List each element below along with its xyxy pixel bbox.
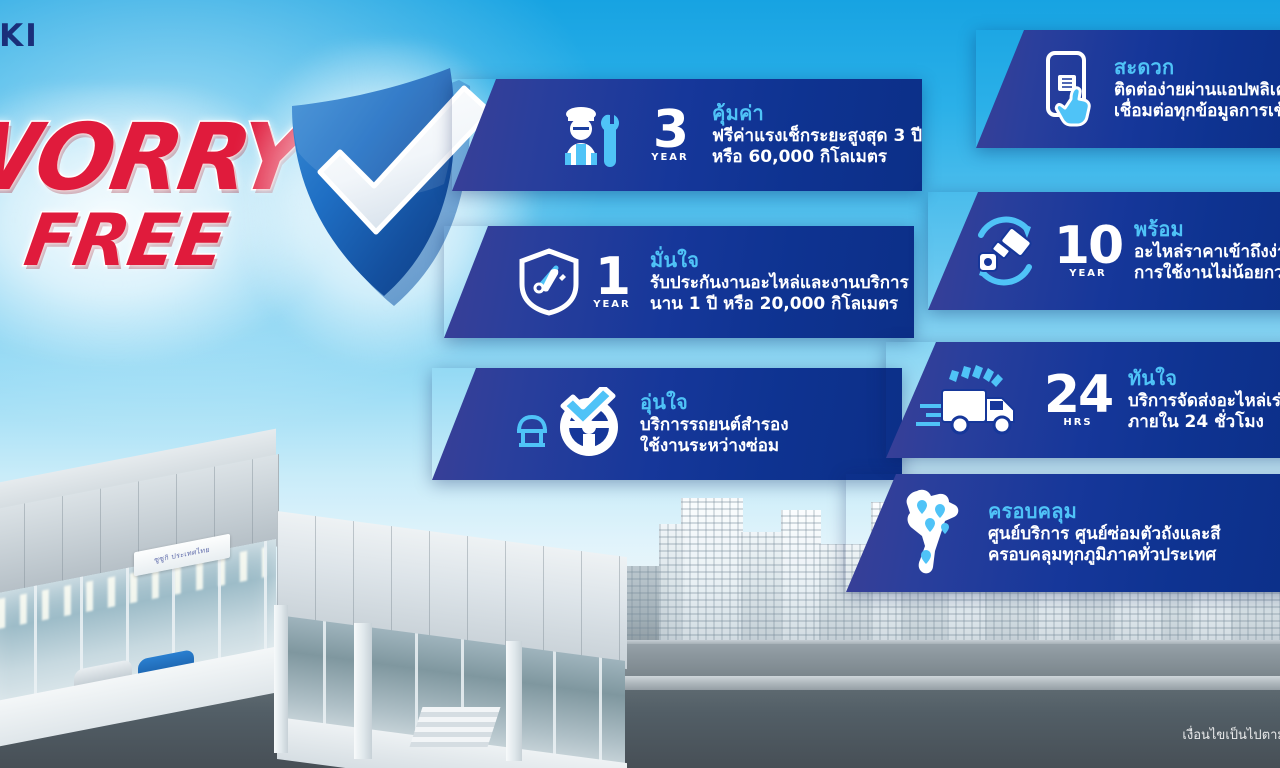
courtesy-car-steering-wheel-icon <box>506 387 636 461</box>
panel-body-line2: ครอบคลุมทุกภูมิภาคทั่วประเทศ <box>988 545 1280 566</box>
badge-unit: YEAR <box>651 152 689 163</box>
panel-heading: อุ่นใจ <box>640 391 902 413</box>
badge-unit: HRS <box>1063 417 1092 428</box>
panel-heading: คุ้มค่า <box>712 102 922 124</box>
badge-number: 3 <box>653 107 687 154</box>
badge-unit: YEAR <box>593 299 631 310</box>
panel-body-line2: เชื่อมต่อทุกข้อมูลการเข้าใช้บริ <box>1114 101 1280 122</box>
panel-body-line2: ภายใน 24 ชั่วโมง <box>1128 412 1280 433</box>
mobile-app-tap-icon <box>1034 49 1106 129</box>
badge-number: 24 <box>1044 372 1112 419</box>
panel-body-line2: ใช้งานระหว่างซ่อม <box>640 436 902 457</box>
fast-delivery-truck-icon <box>912 362 1036 438</box>
poster-canvas: ซูซูกิ ประเทศไทย UKI WORRY FREE <box>0 0 1280 768</box>
mechanic-wrench-icon <box>544 103 642 167</box>
panel-heading: ทันใจ <box>1128 367 1280 389</box>
panel-heading: สะดวก <box>1114 56 1280 78</box>
feature-panel-ready[interactable]: 10 YEAR พร้อม อะไหล่ราคาเข้าถึงง่าย พร้อ… <box>928 192 1280 310</box>
feature-panel-convenient[interactable]: สะดวก ติดต่อง่ายผ่านแอปพลิเคชั่น เชื่อมต… <box>976 30 1280 148</box>
shield-tools-icon <box>506 248 592 316</box>
panel-body-line1: บริการรถยนต์สำรอง <box>640 415 902 436</box>
badge-unit: YEAR <box>1069 268 1107 279</box>
panel-heading: พร้อม <box>1134 218 1280 240</box>
badge-10-year: 10 YEAR <box>1052 223 1124 279</box>
feature-panel-cost-effective[interactable]: 3 YEAR คุ้มค่า ฟรีค่าแรงเช็กระยะสูงสุด 3… <box>452 79 922 191</box>
feature-panel-prompt[interactable]: 24 HRS ทันใจ บริการจัดส่งอะไหล่เร่งด่วน … <box>886 342 1280 458</box>
panel-heading: มั่นใจ <box>650 249 914 271</box>
panel-heading: ครอบคลุม <box>988 500 1280 522</box>
free-text: FREE <box>20 204 230 276</box>
dealership-building: ซูซูกิ ประเทศไทย <box>0 455 626 755</box>
piston-recycle-icon <box>958 211 1052 291</box>
panel-body-line1: ศูนย์บริการ ศูนย์ซ่อมตัวถังและสี <box>988 524 1280 545</box>
badge-number: 1 <box>595 254 629 301</box>
suzuki-wordmark: UKI <box>0 18 39 54</box>
panel-body-line1: ฟรีค่าแรงเช็กระยะสูงสุด 3 ปี <box>712 126 922 147</box>
badge-3-year: 3 YEAR <box>642 107 698 163</box>
panel-body-line2: หรือ 60,000 กิโลเมตร <box>712 147 922 168</box>
panel-body-line2: การใช้งานไม่น้อยกว่า 10 ปี <box>1134 263 1280 284</box>
feature-panel-confidence[interactable]: 1 YEAR มั่นใจ รับประกันงานอะไหล่และงานบร… <box>444 226 914 338</box>
feature-panel-coverage[interactable]: ครอบคลุม ศูนย์บริการ ศูนย์ซ่อมตัวถังและส… <box>846 474 1280 592</box>
road-barrier <box>575 640 1280 680</box>
panel-body-line1: ติดต่อง่ายผ่านแอปพลิเคชั่น <box>1114 80 1280 101</box>
badge-24-hrs: 24 HRS <box>1036 372 1120 428</box>
panel-body-line1: อะไหล่ราคาเข้าถึงง่าย พร้อม <box>1134 242 1280 263</box>
thailand-map-pins-icon <box>882 485 984 581</box>
panel-body-line1: บริการจัดส่งอะไหล่เร่งด่วน <box>1128 391 1280 412</box>
disclaimer-text: เงื่อนไขเป็นไปตาม <box>1182 724 1280 745</box>
badge-number: 10 <box>1054 223 1122 270</box>
feature-panel-peace-of-mind[interactable]: อุ่นใจ บริการรถยนต์สำรอง ใช้งานระหว่างซ่… <box>432 368 902 480</box>
panel-body-line2: นาน 1 ปี หรือ 20,000 กิโลเมตร <box>650 294 914 315</box>
panel-body-line1: รับประกันงานอะไหล่และงานบริการ <box>650 273 914 294</box>
badge-1-year: 1 YEAR <box>592 254 632 310</box>
